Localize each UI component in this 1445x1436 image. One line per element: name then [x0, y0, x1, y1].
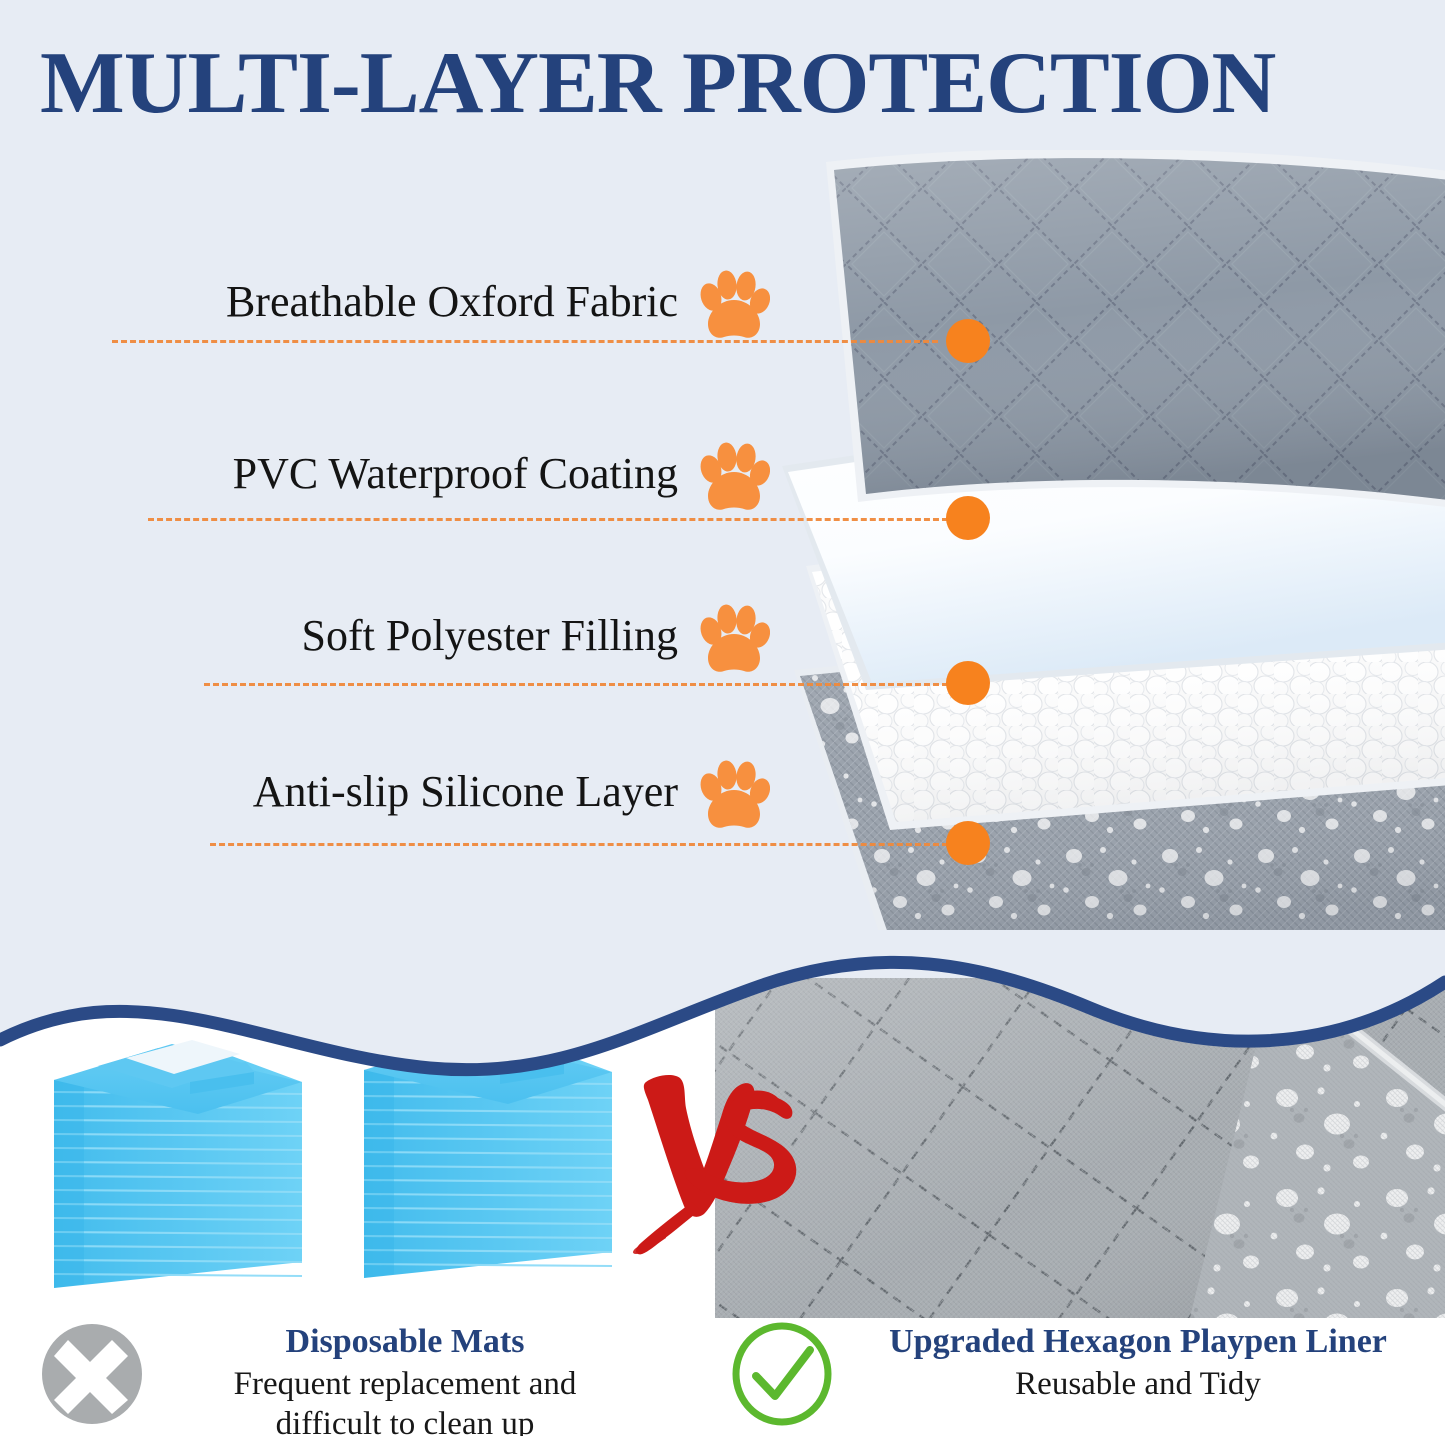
- layered-product-illustration: [770, 150, 1445, 980]
- x-mark-icon: [40, 1322, 144, 1426]
- layer-label-soft-polyester-filling: Soft Polyester Filling: [302, 610, 678, 662]
- connector-line-4: [210, 843, 948, 846]
- caption-subtitle-right-line1: Reusable and Tidy: [848, 1364, 1428, 1404]
- layer-row-breathable-oxford-fabric: Breathable Oxford Fabric: [90, 276, 770, 346]
- paw-print-icon: [694, 760, 770, 836]
- page-title: MULTI-LAYER PROTECTION: [40, 36, 1437, 132]
- layer-row-pvc-waterproof-coating: PVC Waterproof Coating: [90, 448, 770, 518]
- layer-label-breathable-oxford-fabric: Breathable Oxford Fabric: [226, 276, 678, 328]
- connector-dot-2: [946, 496, 990, 540]
- disposable-pads-photo: [40, 1026, 640, 1306]
- caption-text-left: Disposable Mats Frequent replacement and…: [170, 1320, 640, 1436]
- connector-line-1: [112, 340, 938, 343]
- caption-title-left: Disposable Mats: [170, 1320, 640, 1364]
- paw-print-icon: [694, 604, 770, 680]
- layer-row-soft-polyester-filling: Soft Polyester Filling: [180, 610, 770, 680]
- caption-subtitle-left-line2: difficult to clean up: [170, 1404, 640, 1436]
- layer-breathable-oxford-fabric: [826, 150, 1445, 510]
- caption-title-right: Upgraded Hexagon Playpen Liner: [848, 1320, 1428, 1364]
- layer-label-anti-slip-silicone-layer: Anti-slip Silicone Layer: [253, 766, 678, 818]
- connector-dot-1: [946, 319, 990, 363]
- multi-layer-section: MULTI-LAYER PROTECTION: [0, 0, 1445, 1060]
- paw-print-icon: [694, 442, 770, 518]
- connector-line-3: [204, 683, 948, 686]
- vs-badge: [628, 1070, 818, 1280]
- connector-dot-4: [946, 821, 990, 865]
- connector-dot-3: [946, 661, 990, 705]
- pad-stack-left: [54, 1040, 302, 1288]
- layer-label-pvc-waterproof-coating: PVC Waterproof Coating: [233, 448, 678, 500]
- infographic-canvas: MULTI-LAYER PROTECTION: [0, 0, 1445, 1436]
- connector-line-2: [148, 518, 948, 521]
- caption-subtitle-left-line1: Frequent replacement and: [170, 1364, 640, 1404]
- layer-row-anti-slip-silicone-layer: Anti-slip Silicone Layer: [124, 766, 770, 836]
- playpen-liner-photo: [715, 978, 1445, 1318]
- caption-text-right: Upgraded Hexagon Playpen Liner Reusable …: [848, 1320, 1428, 1404]
- paw-print-icon: [694, 270, 770, 346]
- check-mark-icon: [730, 1322, 834, 1426]
- pad-stack-right: [364, 1030, 612, 1278]
